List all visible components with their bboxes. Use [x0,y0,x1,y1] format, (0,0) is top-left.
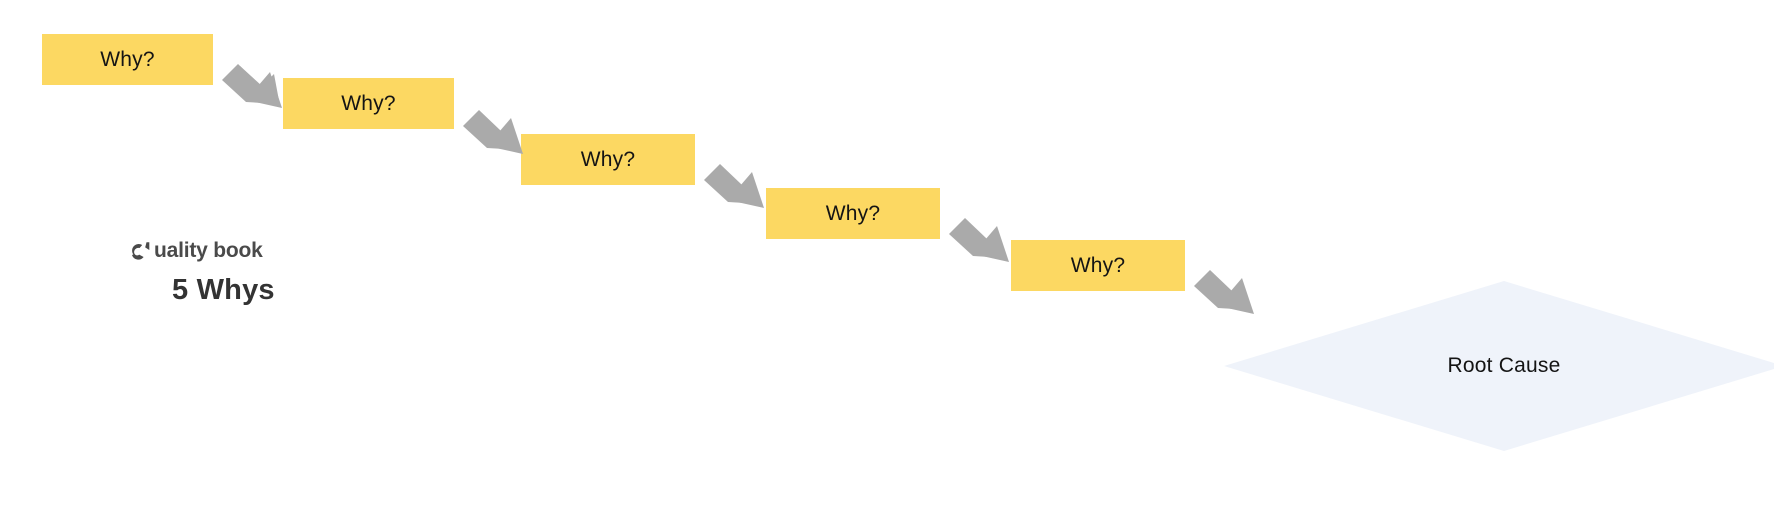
why-box-label: Why? [826,202,880,226]
root-cause-label-wrap: Root Cause [1224,281,1774,451]
why-box-label: Why? [341,92,395,116]
diagram-title: 5 Whys [172,274,388,307]
why-box-1[interactable]: Why? [42,34,213,85]
brand-name: uality book [154,239,263,263]
why-box-3[interactable]: Why? [521,134,695,185]
arrow-right-down-icon-1 [218,60,286,112]
arrow-right-down-icon-4 [945,214,1013,266]
why-box-5[interactable]: Why? [1011,240,1185,291]
why-box-4[interactable]: Why? [766,188,940,239]
brand-row: uality book [128,236,388,266]
arrow-right-down-icon-2 [459,106,527,158]
why-box-label: Why? [100,48,154,72]
root-cause-node[interactable]: Root Cause [1224,281,1774,451]
why-box-2[interactable]: Why? [283,78,454,129]
why-box-label: Why? [581,148,635,172]
diagram-canvas: Why? Why? Why? Why? Why? [0,0,1774,532]
quality-book-logo-icon [128,239,153,264]
arrow-right-down-icon-3 [700,160,768,212]
brand-block: uality book 5 Whys [128,236,388,307]
why-box-label: Why? [1071,254,1125,278]
root-cause-label: Root Cause [1448,354,1561,378]
